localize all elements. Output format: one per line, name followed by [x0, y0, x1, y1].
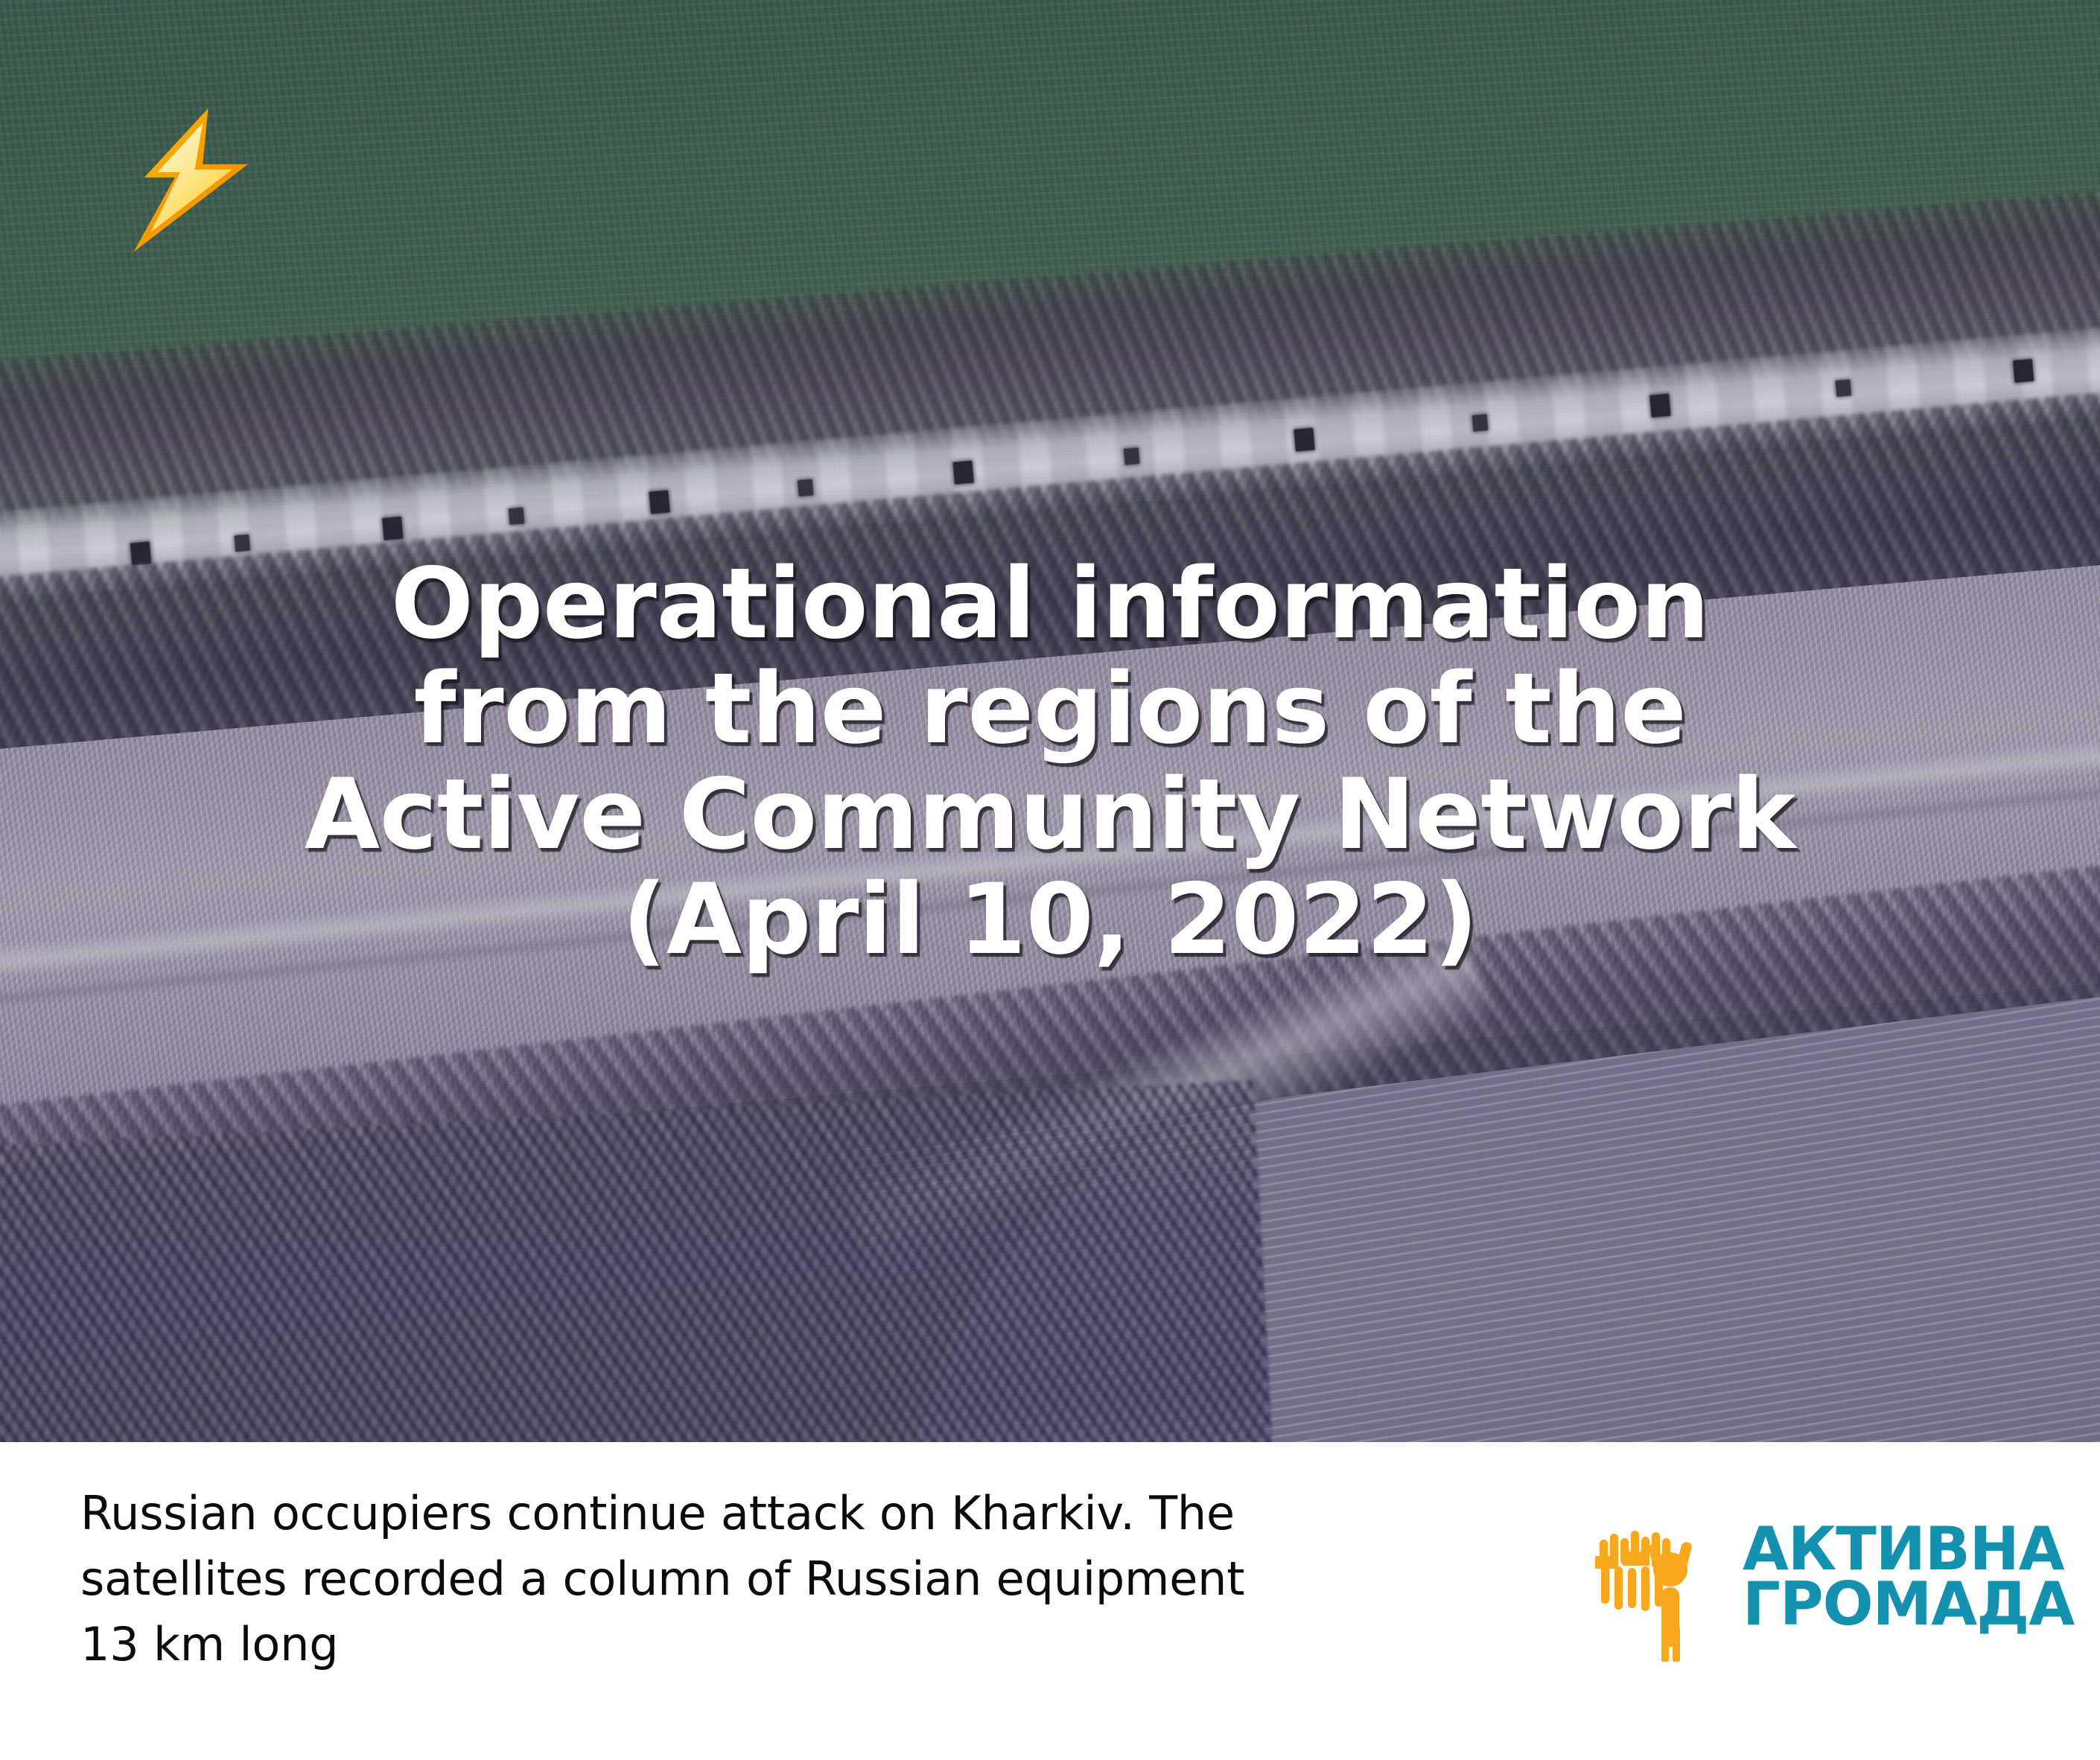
high-voltage-lightning-icon — [125, 106, 259, 255]
convoy-vehicle — [1649, 394, 1671, 418]
convoy-vehicle — [798, 479, 814, 497]
title-line-2: from the regions of the — [89, 656, 2011, 761]
logo-word-line-2: ГРОМАДА — [1743, 1577, 2011, 1632]
convoy-vehicle — [2013, 359, 2034, 383]
logo-word-line-1: АКТИВНА — [1743, 1522, 2011, 1577]
convoy-vehicle — [1294, 428, 1315, 452]
title-line-4: (April 10, 2022) — [89, 867, 2011, 972]
convoy-vehicle — [649, 490, 670, 514]
convoy-vehicle — [1124, 447, 1140, 465]
convoy-vehicle — [1835, 379, 1851, 397]
people-raised-hands-icon — [1595, 1520, 1737, 1662]
convoy-vehicle — [952, 461, 974, 485]
convoy-vehicle — [1472, 414, 1489, 432]
caption-line-2: satellites recorded a column of Russian … — [80, 1546, 1458, 1612]
title-line-3: Active Community Network — [89, 762, 2011, 867]
convoy-vehicle — [234, 535, 250, 552]
poster-root: Operational information from the regions… — [0, 0, 2100, 1760]
title-line-1: Operational information — [89, 551, 2011, 656]
convoy-vehicle — [509, 507, 525, 525]
caption-line-1: Russian occupiers continue attack on Kha… — [80, 1481, 1458, 1546]
convoy-vehicle — [382, 517, 404, 541]
page-title: Operational information from the regions… — [0, 551, 2100, 972]
brand-logo[interactable]: АКТИВНА ГРОМАДА — [1595, 1520, 2009, 1662]
caption-text: Russian occupiers continue attack on Kha… — [80, 1481, 1458, 1677]
logo-wordmark: АКТИВНА ГРОМАДА — [1743, 1522, 2011, 1633]
caption-line-3: 13 km long — [80, 1612, 1458, 1677]
